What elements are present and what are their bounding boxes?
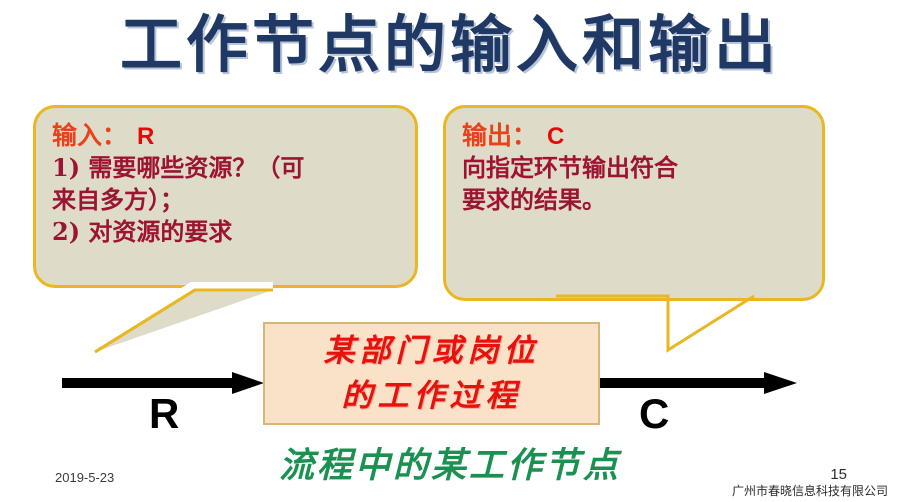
page-title: 工作节点的输入和输出 <box>0 12 900 77</box>
output-arrow <box>600 370 800 396</box>
callout-output: 输出：C 向指定环节输出符合 要求的结果。 <box>443 105 825 301</box>
callout-output-line1: 向指定环节输出符合 <box>462 152 808 184</box>
callout-input-line2: 来自多方）； <box>52 184 401 216</box>
callout-input: 输入：R 1) 需要哪些资源？（可 来自多方）； 2) 对资源的要求 <box>33 105 418 288</box>
callout-input-heading-code: R <box>127 123 154 150</box>
footer-company: 广州市春晓信息科技有限公司 <box>732 482 888 499</box>
process-box-line2: 的工作过程 <box>342 374 522 418</box>
footer-date: 2019-5-23 <box>55 470 114 485</box>
process-box-line1: 某部门或岗位 <box>324 329 540 373</box>
callout-input-body: 输入：R 1) 需要哪些资源？（可 来自多方）； 2) 对资源的要求 <box>36 108 415 256</box>
process-box: 某部门或岗位 的工作过程 <box>263 322 600 425</box>
callout-output-heading-label: 输出： <box>462 121 537 150</box>
callout-input-heading-label: 输入： <box>52 121 127 150</box>
callout-output-body: 输出：C 向指定环节输出符合 要求的结果。 <box>446 108 822 224</box>
callout-output-line2: 要求的结果。 <box>462 184 808 216</box>
callout-input-line3: 2) 对资源的要求 <box>52 216 401 248</box>
callout-input-tail <box>95 280 275 360</box>
output-arrow-label: C <box>639 393 669 435</box>
input-arrow-label: R <box>149 393 179 435</box>
page-number: 15 <box>830 466 847 483</box>
slide-canvas: 工作节点的输入和输出 输入：R 1) 需要哪些资源？（可 来自多方）； 2) 对… <box>0 0 900 502</box>
flow-node-caption: 流程中的某工作节点 <box>0 437 900 488</box>
callout-input-heading: 输入：R <box>52 120 401 152</box>
callout-output-heading-code: C <box>537 123 564 150</box>
callout-output-heading: 输出：C <box>462 120 808 152</box>
callout-input-line1: 1) 需要哪些资源？（可 <box>52 152 401 184</box>
